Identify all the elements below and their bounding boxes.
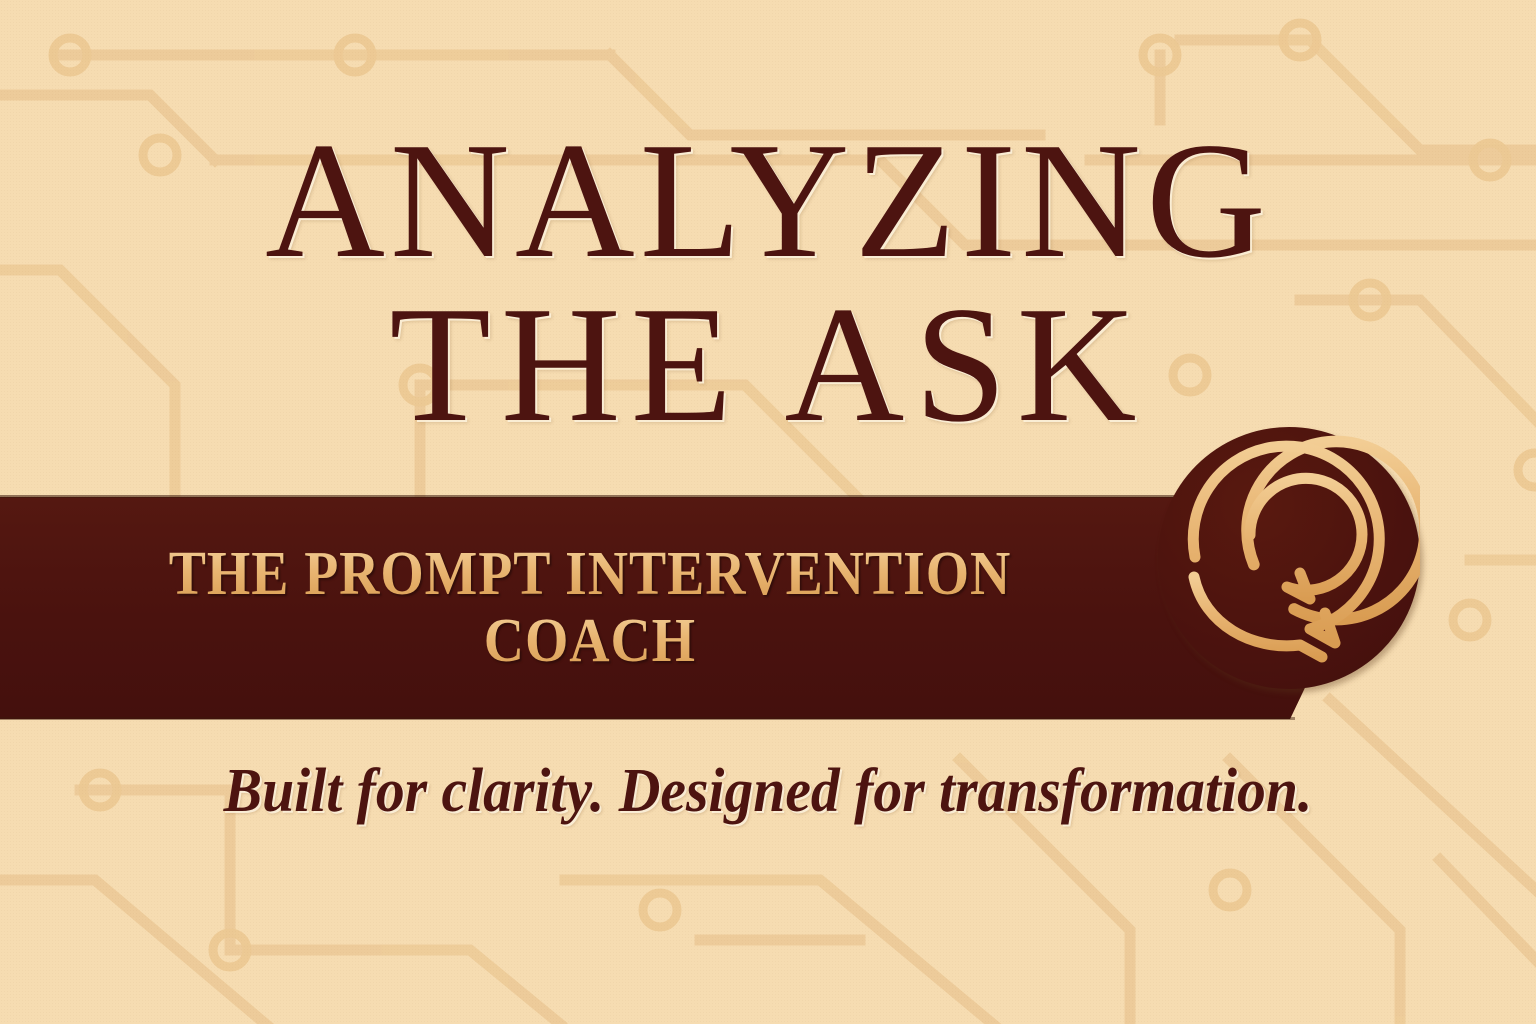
speech-bubble-q-icon bbox=[1158, 427, 1420, 689]
banner-text-block: THE PROMPT INTERVENTION COACH bbox=[0, 497, 1180, 719]
headline-line-1: ANALYZING bbox=[0, 118, 1536, 282]
page-title: ANALYZING THE ASK bbox=[0, 118, 1536, 447]
tagline: Built for clarity. Designed for transfor… bbox=[54, 756, 1482, 827]
poster-canvas: ANALYZING THE ASK THE PROMPT INTERVENTIO… bbox=[0, 0, 1536, 1024]
headline-line-2: THE ASK bbox=[0, 282, 1536, 446]
banner-line-2: COACH bbox=[484, 610, 696, 673]
banner-line-1: THE PROMPT INTERVENTION bbox=[169, 543, 1011, 606]
